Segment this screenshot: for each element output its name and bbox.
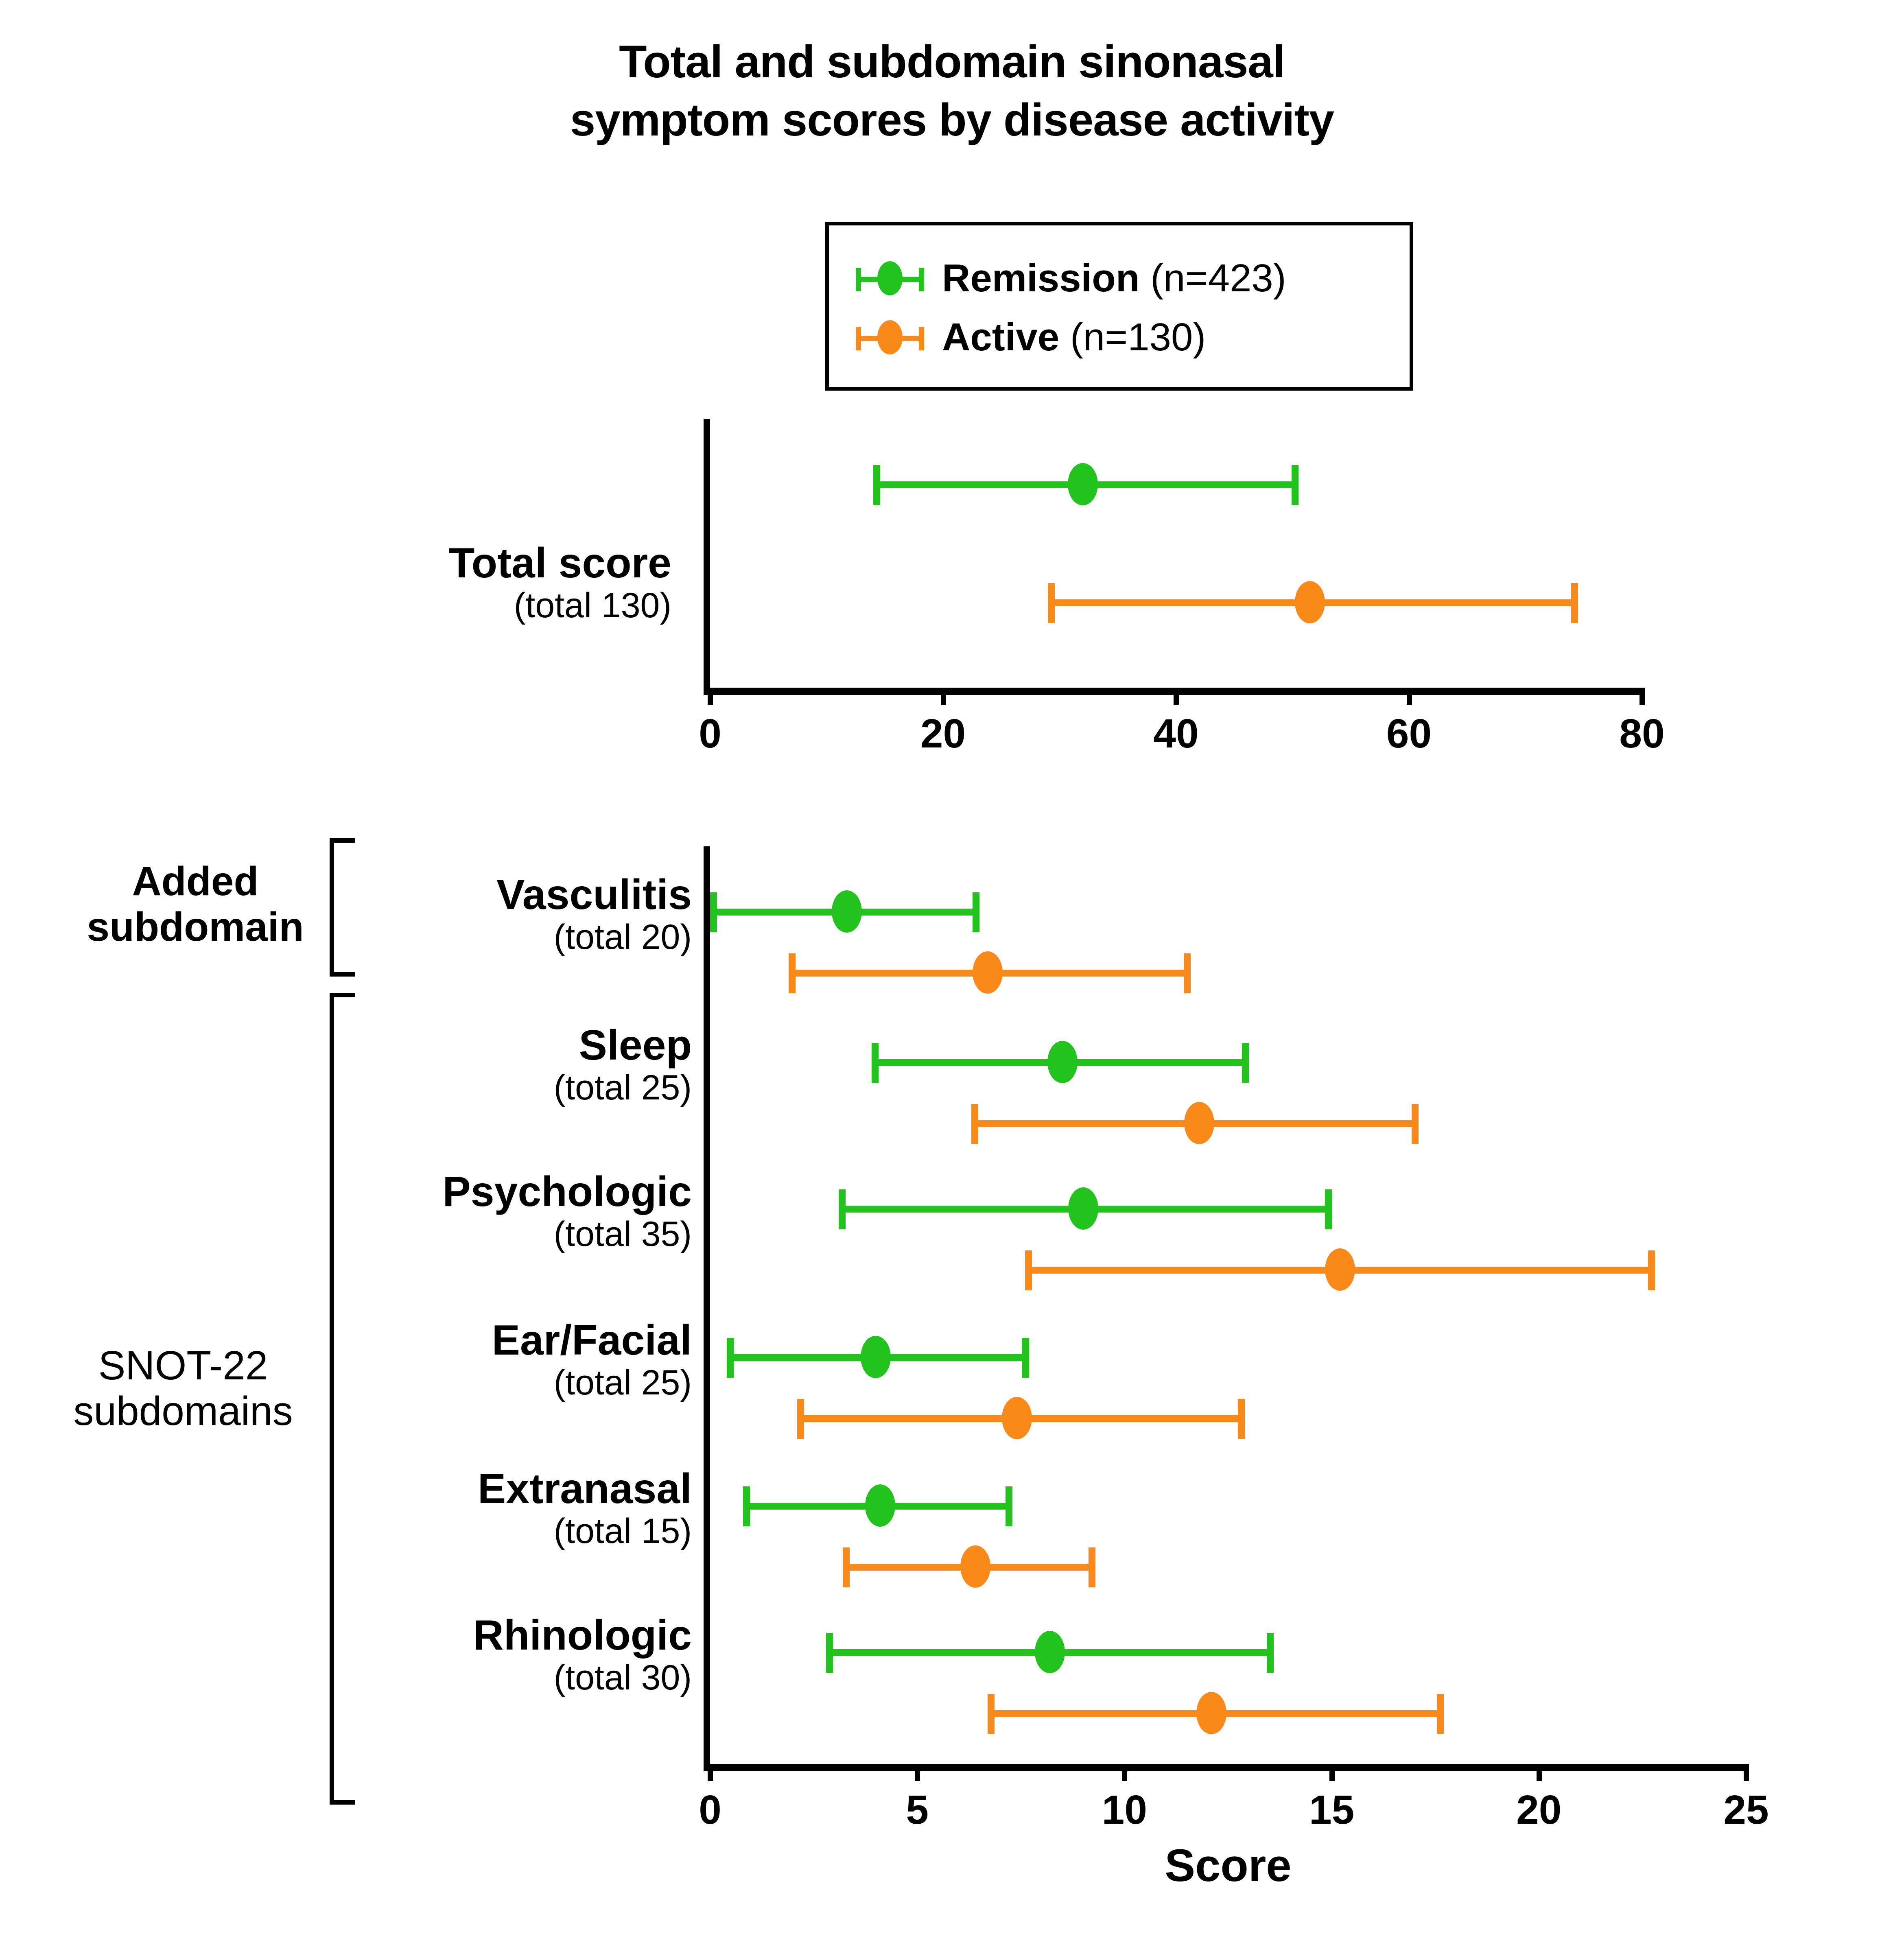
- error-bar-marker: [743, 1483, 1012, 1528]
- x-tick-label: 0: [699, 710, 721, 757]
- group-label-added-subdomain: Added subdomain: [73, 859, 317, 950]
- y-axis-bottom: [704, 846, 710, 1764]
- x-tick: [941, 688, 946, 705]
- legend-label-active-name: Active: [942, 315, 1059, 359]
- row-label-vasculitis: Vasculitis(total 20): [326, 873, 692, 957]
- row-label-main: Extranasal: [326, 1467, 692, 1511]
- group-label-snot22-line-1: SNOT-22: [49, 1343, 317, 1388]
- row-label-total-score: Total score (total 130): [265, 541, 671, 626]
- error-bar-marker: [839, 1186, 1332, 1231]
- error-bar-marker: [826, 1630, 1274, 1674]
- x-tick: [1174, 688, 1179, 705]
- figure-root: Total and subdomain sinonasal symptom sc…: [0, 0, 1904, 1958]
- error-bar-marker: [789, 950, 1191, 995]
- legend-item-remission: Remission (n=423): [853, 258, 1286, 299]
- error-bar-marker: [971, 1101, 1419, 1145]
- x-tick-label: 20: [1516, 1787, 1561, 1833]
- x-axis-title: Score: [710, 1839, 1746, 1892]
- x-tick: [708, 1764, 713, 1781]
- row-label-sleep: Sleep(total 25): [326, 1023, 692, 1108]
- legend-label-active-n: (n=130): [1059, 315, 1206, 359]
- x-tick: [915, 1764, 920, 1781]
- group-label-added-line-2: subdomain: [73, 904, 317, 950]
- row-label-sub: (total 35): [326, 1214, 692, 1254]
- x-axis-bottom: [704, 1764, 1747, 1771]
- group-label-added-line-1: Added: [73, 859, 317, 904]
- legend-item-active: Active (n=130): [853, 317, 1206, 358]
- x-tick-label: 15: [1309, 1787, 1354, 1833]
- title-line-1: Total and subdomain sinonasal: [0, 33, 1904, 91]
- page-title: Total and subdomain sinonasal symptom sc…: [0, 33, 1904, 149]
- row-label-sub: (total 20): [326, 917, 692, 957]
- x-tick: [1744, 1764, 1749, 1781]
- error-bar-marker: [710, 889, 979, 934]
- x-tick-label: 20: [920, 710, 966, 757]
- row-label-total-score-sub: (total 130): [265, 586, 671, 626]
- legend-marker-remission-icon: [853, 262, 927, 295]
- legend-label-remission-n: (n=423): [1139, 256, 1286, 300]
- error-bar-marker: [1048, 580, 1578, 625]
- plot-area-bottom: 0510152025: [710, 846, 1746, 1764]
- error-bar-marker: [727, 1335, 1029, 1379]
- x-tick-label: 60: [1386, 710, 1432, 757]
- row-label-rhinologic: Rhinologic(total 30): [326, 1613, 692, 1698]
- x-tick-label: 40: [1153, 710, 1198, 757]
- y-axis-top: [704, 419, 710, 688]
- x-tick: [1122, 1764, 1127, 1781]
- title-line-2: symptom scores by disease activity: [0, 91, 1904, 149]
- group-label-snot22-subdomains: SNOT-22 subdomains: [49, 1343, 317, 1434]
- group-label-snot22-line-2: subdomains: [49, 1388, 317, 1434]
- legend-label-remission: Remission (n=423): [942, 256, 1286, 301]
- x-tick-label: 5: [906, 1787, 929, 1833]
- x-tick: [1639, 688, 1645, 705]
- panel-total-score: Total score (total 130) 020406080: [0, 407, 1904, 749]
- legend: Remission (n=423) Active (n=130): [825, 222, 1413, 391]
- row-label-sub: (total 15): [326, 1511, 692, 1552]
- legend-label-active: Active (n=130): [942, 315, 1206, 360]
- x-axis-top: [704, 688, 1643, 695]
- error-bar-marker: [988, 1691, 1443, 1735]
- error-bar-marker: [1025, 1247, 1655, 1292]
- row-label-main: Ear/Facial: [326, 1318, 692, 1363]
- plot-area-top: 020406080: [710, 419, 1642, 688]
- x-tick: [1329, 1764, 1335, 1781]
- row-label-main: Rhinologic: [326, 1613, 692, 1658]
- row-label-main: Vasculitis: [326, 873, 692, 917]
- row-label-sub: (total 25): [326, 1363, 692, 1403]
- x-tick-label: 0: [699, 1787, 721, 1833]
- legend-marker-active-icon: [853, 321, 927, 354]
- x-tick-label: 10: [1102, 1787, 1147, 1833]
- row-label-main: Sleep: [326, 1023, 692, 1068]
- row-label-sub: (total 25): [326, 1068, 692, 1108]
- row-label-total-score-main: Total score: [265, 541, 671, 586]
- error-bar-marker: [797, 1396, 1245, 1440]
- row-label-ear-facial: Ear/Facial(total 25): [326, 1318, 692, 1403]
- legend-label-remission-name: Remission: [942, 256, 1139, 300]
- row-label-main: Psychologic: [326, 1170, 692, 1214]
- x-tick: [708, 688, 713, 705]
- x-tick: [1537, 1764, 1542, 1781]
- row-label-extranasal: Extranasal(total 15): [326, 1467, 692, 1552]
- error-bar-marker: [873, 462, 1298, 507]
- panel-subdomains: Added subdomain SNOT-22 subdomains Vascu…: [0, 830, 1904, 1827]
- row-label-sub: (total 30): [326, 1658, 692, 1698]
- x-tick-label: 25: [1723, 1787, 1768, 1833]
- row-label-psychologic: Psychologic(total 35): [326, 1170, 692, 1254]
- x-tick-label: 80: [1619, 710, 1664, 757]
- error-bar-marker: [872, 1040, 1249, 1084]
- error-bar-marker: [843, 1544, 1095, 1589]
- x-tick: [1407, 688, 1412, 705]
